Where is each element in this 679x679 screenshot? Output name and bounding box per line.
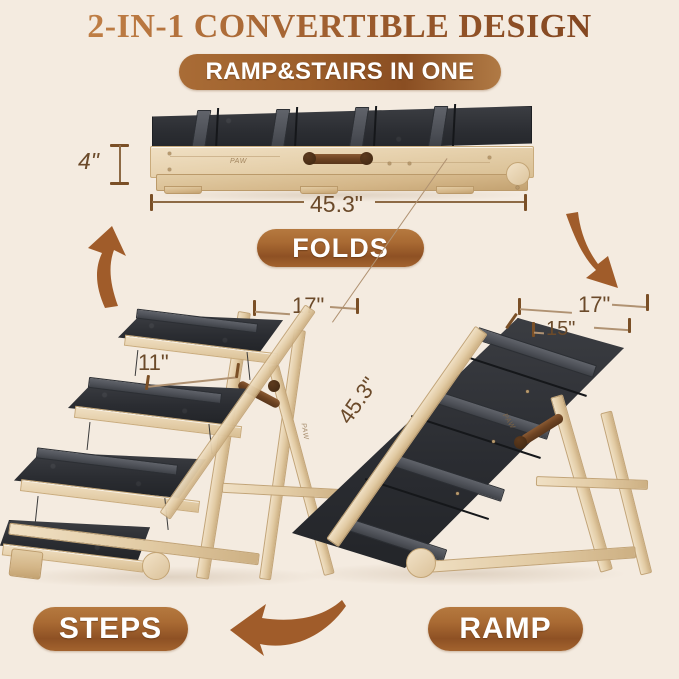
screw (168, 168, 171, 171)
ramp-pivot-wheel (406, 548, 436, 578)
dimension-line-horizontal (375, 201, 525, 203)
dimension-cap-bottom (110, 182, 129, 185)
dimension-cap-left (518, 298, 521, 315)
folded-product-illustration: PAW (140, 100, 540, 205)
dimension-cap-left (253, 300, 256, 316)
dimension-cap-left (532, 322, 535, 337)
arrow-down-right-icon (548, 212, 620, 304)
wood-grain (170, 156, 280, 157)
handle-knob-right (360, 152, 373, 165)
dimension-cap-right (524, 194, 527, 211)
ramp-hinge-knob (514, 436, 527, 449)
stairs-pivot-wheel (142, 552, 170, 580)
screw (488, 156, 491, 159)
pivot-knob (506, 162, 530, 186)
dimension-label-folded-length: 45.3" (310, 191, 363, 218)
carry-handle (308, 154, 368, 164)
dimension-line-vertical (119, 145, 121, 183)
dimension-label-folded-height: 4" (78, 148, 99, 175)
ramp-illustration: PAW (278, 300, 678, 600)
ramp-badge: RAMP (428, 607, 583, 651)
infographic-canvas: 2-IN-1 CONVERTIBLE DESIGN RAMP&STAIRS IN… (0, 0, 679, 679)
dimension-label-ramp-width-inner: 15" (546, 318, 575, 341)
steps-badge: STEPS (33, 607, 188, 651)
stairs-foot (8, 548, 43, 580)
dimension-cap-right (628, 318, 631, 333)
folded-foot (164, 186, 202, 194)
screw (516, 186, 519, 189)
folded-foot (436, 186, 474, 194)
dimension-cap-right (646, 294, 649, 311)
dimension-line-horizontal (152, 201, 304, 203)
screw (492, 440, 495, 443)
arrow-up-left-icon (74, 222, 140, 308)
ramp-cross-brace (536, 476, 648, 490)
brand-logo: PAW (230, 158, 247, 165)
screw (408, 162, 411, 165)
screw (168, 152, 171, 155)
screw (456, 492, 459, 495)
handle-knob-left (303, 152, 316, 165)
subtitle-badge: RAMP&STAIRS IN ONE (179, 54, 501, 90)
folds-badge: FOLDS (257, 229, 424, 267)
screw (388, 162, 391, 165)
dimension-label-stairs-depth: 11" (138, 350, 169, 376)
arrow-left-icon (226, 600, 348, 656)
screw (526, 390, 529, 393)
page-title: 2-IN-1 CONVERTIBLE DESIGN (0, 8, 679, 46)
dimension-label-ramp-width-outer: 17" (578, 292, 610, 318)
